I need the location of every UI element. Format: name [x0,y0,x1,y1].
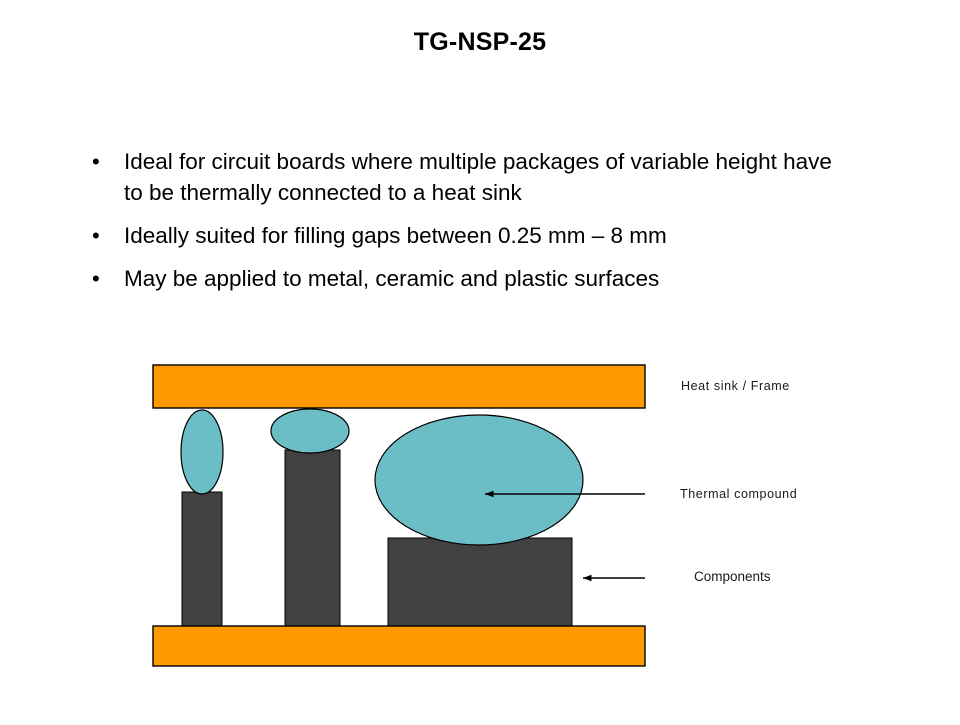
heat-sink-label: Heat sink / Frame [681,379,790,393]
component-block-2 [285,450,340,626]
thermal-compound-label: Thermal compound [680,487,797,501]
heat-sink-bottom-bar [153,626,645,666]
component-block-1 [182,492,222,626]
thermal-compound-blob-2 [271,409,349,453]
components-label: Components [694,569,771,584]
component-block-3 [388,538,572,626]
diagram-svg [0,0,960,720]
slide-canvas: TG-NSP-25 • Ideal for circuit boards whe… [0,0,960,720]
thermal-compound-blob-1 [181,410,223,494]
thermal-interface-diagram: Heat sink / Frame Thermal compound Compo… [0,0,960,720]
thermal-compound-blob-3 [375,415,583,545]
heat-sink-top-bar [153,365,645,408]
